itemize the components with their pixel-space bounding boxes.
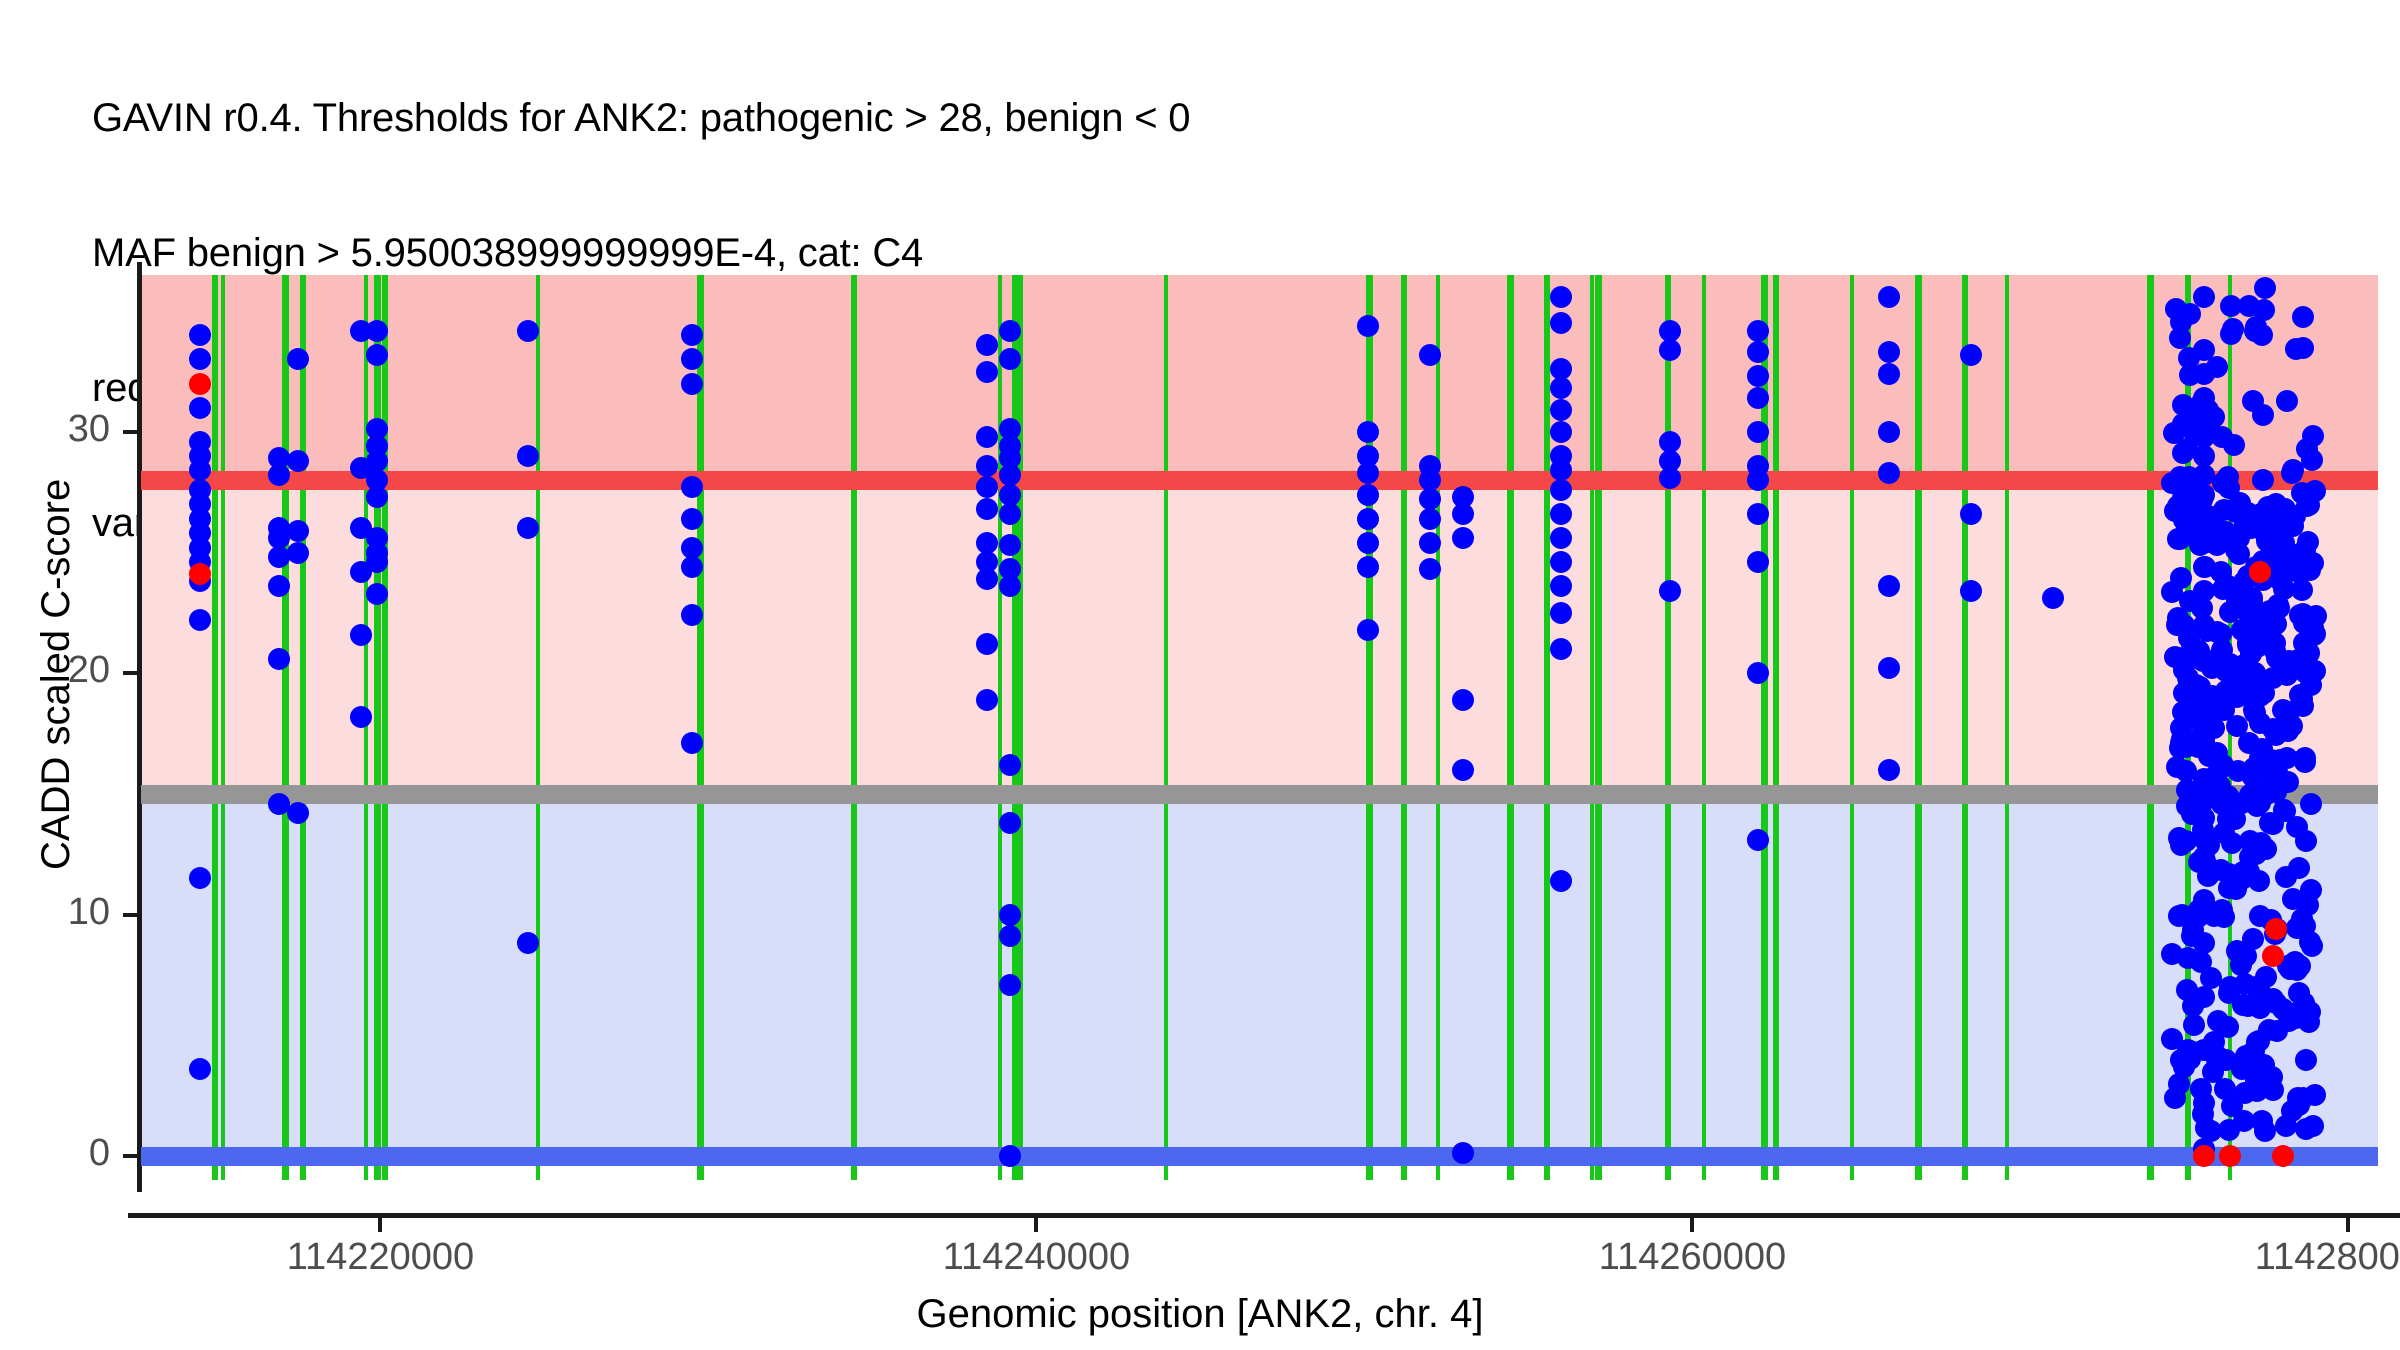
exon-line	[1590, 275, 1594, 1180]
data-point-gnomad	[2254, 277, 2276, 299]
data-point-clinvar	[2249, 561, 2271, 583]
data-point-gnomad	[1550, 286, 1572, 308]
data-point-gnomad	[2294, 751, 2316, 773]
exon-line	[998, 275, 1002, 1180]
data-point-gnomad	[2213, 906, 2235, 928]
data-point-gnomad	[2252, 469, 2274, 491]
data-point-gnomad	[2193, 1092, 2215, 1114]
data-point-gnomad	[1357, 556, 1379, 578]
data-point-gnomad	[2193, 339, 2215, 361]
data-point-gnomad	[2302, 552, 2324, 574]
data-point-gnomad	[2270, 570, 2292, 592]
data-point-gnomad	[2218, 477, 2240, 499]
data-point-gnomad	[999, 904, 1021, 926]
data-point-gnomad	[2252, 1059, 2274, 1081]
y-tick-label: 0	[0, 1132, 110, 1175]
threshold-line-benign-threshold	[141, 1147, 2378, 1166]
data-point-gnomad	[2238, 295, 2260, 317]
data-point-gnomad	[2193, 730, 2215, 752]
y-tick	[123, 671, 137, 675]
exon-line	[851, 275, 857, 1180]
data-point-gnomad	[189, 397, 211, 419]
data-point-gnomad	[1357, 421, 1379, 443]
exon-line	[1915, 275, 1922, 1180]
exon-line	[1850, 275, 1854, 1180]
exon-line	[1507, 275, 1514, 1180]
data-point-gnomad	[2193, 614, 2215, 636]
exon-line	[536, 275, 540, 1180]
data-point-gnomad	[1960, 344, 1982, 366]
data-point-gnomad	[189, 609, 211, 631]
data-point-gnomad	[2193, 556, 2215, 578]
data-point-gnomad	[2246, 1080, 2268, 1102]
data-point-gnomad	[2193, 532, 2215, 554]
title-line-2: MAF benign > 5.950038999999999E-4, cat: …	[92, 231, 2372, 276]
data-point-gnomad	[976, 689, 998, 711]
data-point-gnomad	[2304, 1084, 2326, 1106]
x-tick	[378, 1218, 382, 1232]
data-point-gnomad	[2168, 1073, 2190, 1095]
exon-line	[2147, 275, 2154, 1180]
data-point-gnomad	[2265, 493, 2287, 515]
data-point-gnomad	[2248, 870, 2270, 892]
data-point-gnomad	[1419, 532, 1441, 554]
data-point-gnomad	[2193, 807, 2215, 829]
data-point-gnomad	[2295, 1118, 2317, 1140]
data-point-gnomad	[1747, 829, 1769, 851]
data-point-gnomad	[1550, 602, 1572, 624]
data-point-gnomad	[366, 583, 388, 605]
data-point-gnomad	[1357, 484, 1379, 506]
data-point-gnomad	[999, 503, 1021, 525]
y-tick-label: 20	[0, 649, 110, 692]
data-point-gnomad	[2218, 863, 2240, 885]
data-point-gnomad	[1747, 387, 1769, 409]
data-point-gnomad	[1747, 421, 1769, 443]
data-point-gnomad	[1878, 286, 1900, 308]
exon-line	[1544, 275, 1550, 1180]
data-point-gnomad	[2302, 425, 2324, 447]
exon-line	[1436, 275, 1440, 1180]
exon-line	[1665, 275, 1671, 1180]
y-axis-line	[137, 262, 142, 1192]
x-axis-title: Genomic position [ANK2, chr. 4]	[0, 1292, 2400, 1337]
data-point-gnomad	[1452, 759, 1474, 781]
band-pathogenic	[141, 275, 2378, 480]
data-point-gnomad	[1357, 619, 1379, 641]
data-point-gnomad	[2281, 462, 2303, 484]
y-tick	[123, 1154, 137, 1158]
data-point-gnomad	[681, 373, 703, 395]
data-point-gnomad	[366, 344, 388, 366]
data-point-gnomad	[268, 546, 290, 568]
y-tick	[123, 430, 137, 434]
data-point-gnomad	[2193, 1039, 2215, 1061]
exon-line	[1366, 275, 1373, 1180]
data-point-gnomad	[517, 445, 539, 467]
exon-line	[697, 275, 704, 1180]
x-tick	[1690, 1218, 1694, 1232]
exon-line	[1401, 275, 1407, 1180]
data-point-gnomad	[2221, 1095, 2243, 1117]
data-point-gnomad	[2215, 660, 2237, 682]
data-point-gnomad	[2193, 986, 2215, 1008]
data-point-gnomad	[268, 575, 290, 597]
band-intermediate	[141, 480, 2378, 794]
exon-line	[1595, 275, 1602, 1180]
x-tick	[1034, 1218, 1038, 1232]
data-point-gnomad	[976, 426, 998, 448]
data-point-gnomad	[1357, 315, 1379, 337]
data-point-gnomad	[1357, 532, 1379, 554]
exon-line	[374, 275, 381, 1180]
data-point-clinvar	[2262, 945, 2284, 967]
exon-line	[382, 275, 388, 1180]
data-point-gnomad	[999, 812, 1021, 834]
data-point-gnomad	[1419, 508, 1441, 530]
exon-line	[282, 275, 289, 1180]
data-point-gnomad	[976, 361, 998, 383]
data-point-gnomad	[2286, 917, 2308, 939]
exon-line	[1017, 275, 1023, 1180]
data-point-gnomad	[1659, 580, 1681, 602]
data-point-gnomad	[2244, 320, 2266, 342]
data-point-gnomad	[2300, 793, 2322, 815]
exon-line	[1761, 275, 1768, 1180]
exon-line	[1962, 275, 1968, 1180]
data-point-gnomad	[2264, 640, 2286, 662]
data-point-gnomad	[1419, 344, 1441, 366]
y-tick	[123, 913, 137, 917]
data-point-gnomad	[268, 648, 290, 670]
x-tick-label: 114220000	[230, 1236, 530, 1279]
data-point-gnomad	[976, 455, 998, 477]
data-point-gnomad	[1550, 479, 1572, 501]
band-benign	[141, 794, 2378, 1156]
title-line-1: GAVIN r0.4. Thresholds for ANK2: pathoge…	[92, 96, 2372, 141]
data-point-gnomad	[2193, 484, 2215, 506]
data-point-gnomad	[1452, 689, 1474, 711]
data-point-gnomad	[189, 1058, 211, 1080]
data-point-gnomad	[1357, 462, 1379, 484]
data-point-gnomad	[268, 464, 290, 486]
data-point-gnomad	[1452, 527, 1474, 549]
data-point-gnomad	[268, 793, 290, 815]
data-point-gnomad	[1960, 503, 1982, 525]
data-point-gnomad	[1878, 462, 1900, 484]
data-point-gnomad	[2286, 816, 2308, 838]
data-point-gnomad	[2301, 449, 2323, 471]
data-point-gnomad	[2193, 363, 2215, 385]
data-point-gnomad	[1452, 503, 1474, 525]
data-point-gnomad	[1357, 508, 1379, 530]
exon-line	[212, 275, 218, 1180]
data-point-gnomad	[2226, 940, 2248, 962]
data-point-gnomad	[2193, 648, 2215, 670]
data-point-gnomad	[681, 556, 703, 578]
data-point-gnomad	[1659, 339, 1681, 361]
data-point-gnomad	[2256, 530, 2278, 552]
data-point-gnomad	[2234, 513, 2256, 535]
threshold-line-pathogenic-threshold	[141, 471, 2378, 490]
data-point-gnomad	[681, 508, 703, 530]
data-point-gnomad	[366, 320, 388, 342]
data-point-gnomad	[2288, 857, 2310, 879]
data-point-gnomad	[2253, 755, 2275, 777]
data-point-gnomad	[1550, 503, 1572, 525]
data-point-gnomad	[2193, 286, 2215, 308]
data-point-gnomad	[2282, 888, 2304, 910]
data-point-gnomad	[2165, 298, 2187, 320]
data-point-gnomad	[2222, 318, 2244, 340]
data-point-gnomad	[2276, 390, 2298, 412]
x-axis-line	[128, 1213, 2400, 1218]
data-point-gnomad	[2219, 601, 2241, 623]
plot-panel	[141, 275, 2378, 1180]
data-point-gnomad	[2272, 699, 2294, 721]
data-point-gnomad	[1747, 503, 1769, 525]
exon-line	[1164, 275, 1168, 1180]
data-point-gnomad	[1550, 421, 1572, 443]
data-point-gnomad	[287, 542, 309, 564]
data-point-gnomad	[999, 320, 1021, 342]
exon-line	[1773, 275, 1779, 1180]
data-point-gnomad	[999, 1145, 1021, 1167]
data-point-gnomad	[366, 486, 388, 508]
data-point-gnomad	[2295, 1049, 2317, 1071]
data-point-gnomad	[1747, 320, 1769, 342]
x-tick-label: 114240000	[886, 1236, 1186, 1279]
data-point-gnomad	[1878, 759, 1900, 781]
data-point-gnomad	[2295, 662, 2317, 684]
data-point-gnomad	[1550, 870, 1572, 892]
exon-line	[221, 275, 225, 1180]
data-point-gnomad	[2298, 494, 2320, 516]
exon-line	[1702, 275, 1706, 1180]
exon-line	[2005, 275, 2009, 1180]
x-tick-label: 114260000	[1542, 1236, 1842, 1279]
data-point-gnomad	[2183, 1014, 2205, 1036]
threshold-line-fallback-threshold	[141, 785, 2378, 804]
data-point-gnomad	[2301, 935, 2323, 957]
data-point-clinvar	[189, 373, 211, 395]
data-point-gnomad	[2226, 715, 2248, 737]
data-point-gnomad	[2163, 422, 2185, 444]
data-point-gnomad	[999, 754, 1021, 776]
data-point-gnomad	[2193, 846, 2215, 868]
x-tick-label: 114280000	[2198, 1236, 2400, 1279]
data-point-gnomad	[350, 624, 372, 646]
data-point-gnomad	[2217, 1016, 2239, 1038]
data-point-gnomad	[350, 706, 372, 728]
data-point-gnomad	[2193, 508, 2215, 530]
data-point-gnomad	[1878, 421, 1900, 443]
y-tick-label: 30	[0, 408, 110, 451]
y-tick-label: 10	[0, 891, 110, 934]
data-point-gnomad	[1659, 467, 1681, 489]
data-point-gnomad	[2231, 792, 2253, 814]
x-tick	[2346, 1218, 2350, 1232]
data-point-clinvar	[2193, 1145, 2215, 1167]
data-point-gnomad	[999, 974, 1021, 996]
data-point-clinvar	[2272, 1145, 2294, 1167]
exon-line	[300, 275, 306, 1180]
data-point-gnomad	[517, 320, 539, 342]
data-point-gnomad	[2288, 982, 2310, 1004]
data-point-gnomad	[2212, 578, 2234, 600]
